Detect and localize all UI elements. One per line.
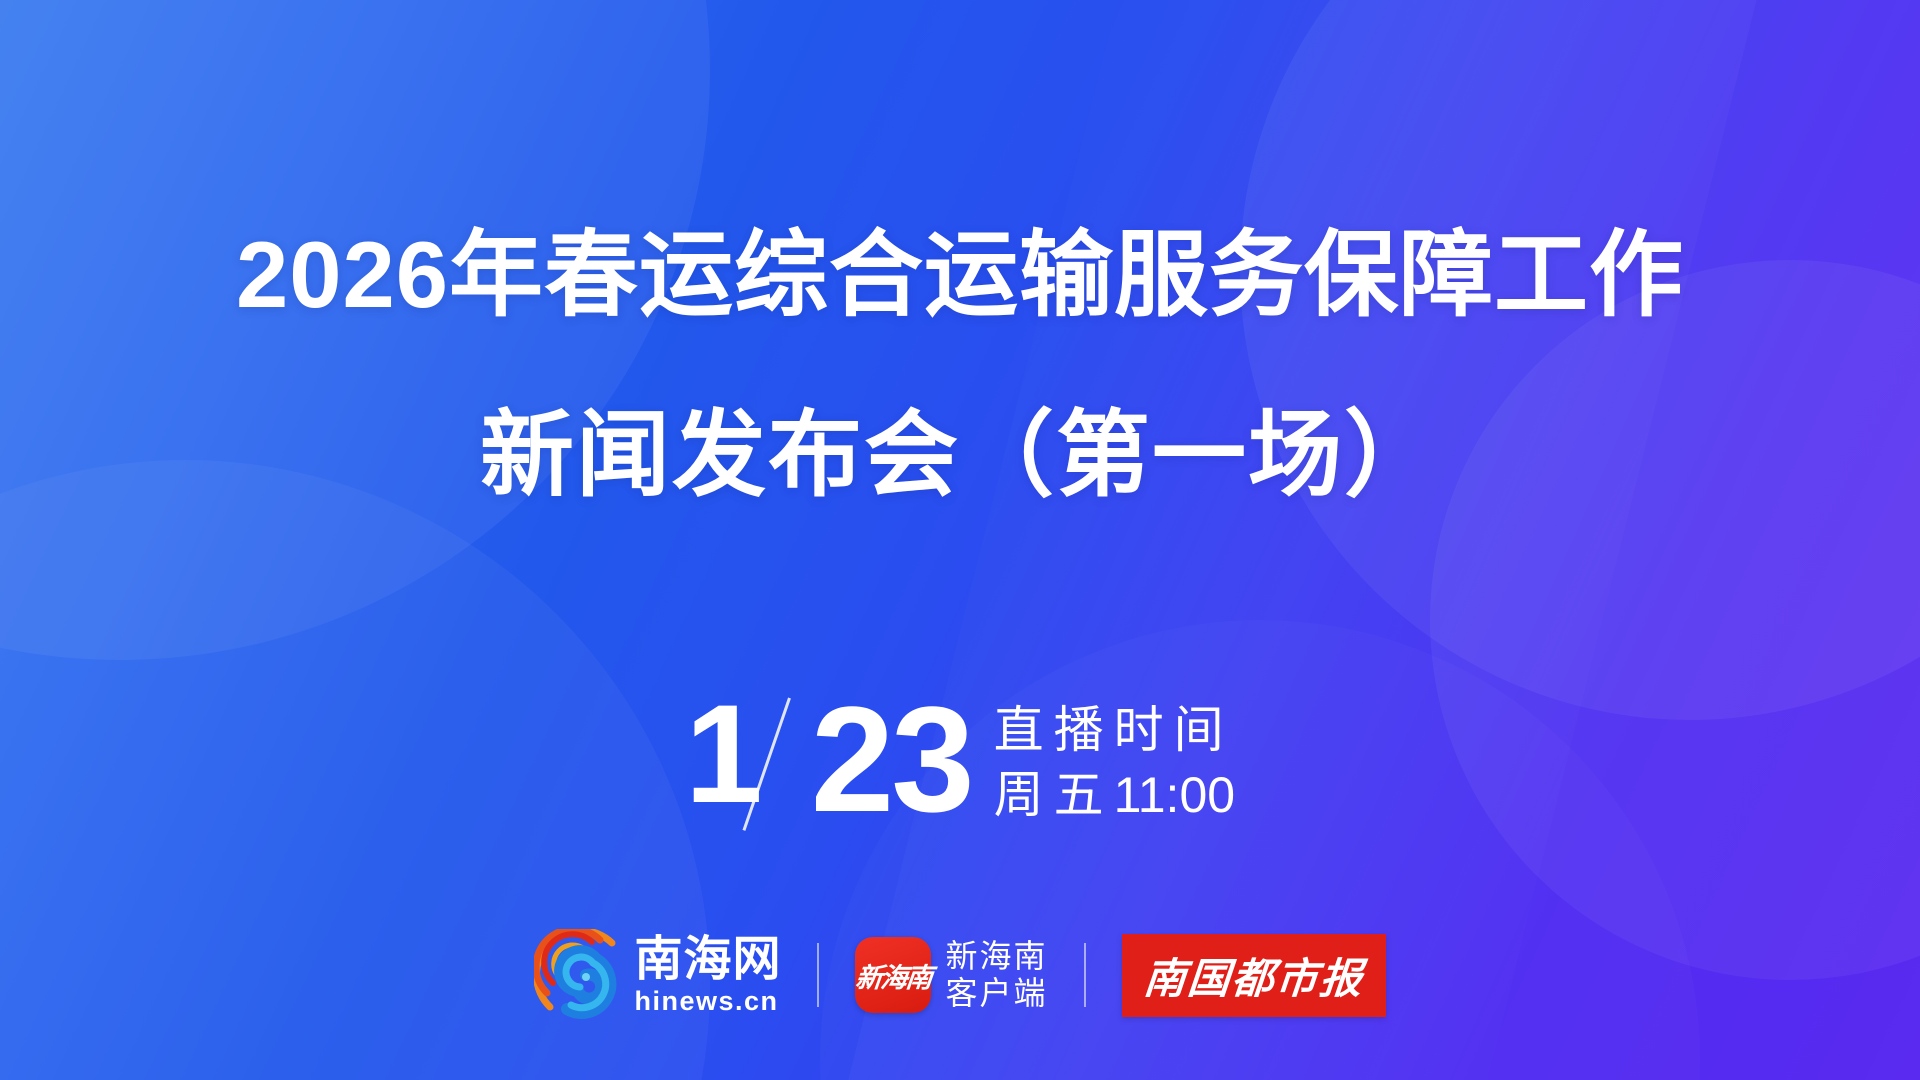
nanguo-daily-label: 南国都市报 [1141,945,1366,1006]
hinews-cn-label: 南海网 [634,936,781,984]
logo-nanguo-metropolis-daily[interactable]: 南国都市报 [1122,925,1386,1025]
logo-xinhainan-app[interactable]: 新海南 新海南 客户端 [855,925,1047,1025]
date-time-block: 1 23 直播时间 周五11:00 [0,690,1920,840]
xinhainan-app-icon-text: 新海南 [854,956,933,995]
sponsor-logo-strip: 南海网 hinews.cn 新海南 新海南 客户端 [0,920,1920,1030]
xinhainan-label-line-2: 客户端 [945,975,1047,1012]
event-day: 23 [811,690,972,828]
poster-title: 2026年春运综合运输服务保障工作 新闻发布会（第一场） [0,228,1920,502]
broadcast-weekday: 周五 [994,767,1114,823]
broadcast-time-value: 周五11:00 [994,769,1235,822]
broadcast-time-label: 直播时间 [994,704,1235,757]
hinews-spiral-icon [534,929,626,1021]
title-line-2: 新闻发布会（第一场） [0,408,1920,502]
logo-divider-2 [1084,943,1086,1007]
logo-hinews[interactable]: 南海网 hinews.cn [534,925,781,1025]
date-separator-slash [761,690,815,840]
nanguo-daily-banner: 南国都市报 [1122,934,1386,1017]
broadcast-time-column: 直播时间 周五11:00 [994,690,1235,821]
logo-divider-1 [817,943,819,1007]
hinews-en-label: hinews.cn [634,988,781,1015]
xinhainan-label-line-1: 新海南 [945,938,1047,975]
title-line-1: 2026年春运综合运输服务保障工作 [0,228,1920,322]
xinhainan-app-icon: 新海南 [855,937,931,1013]
event-poster: 2026年春运综合运输服务保障工作 新闻发布会（第一场） 1 23 直播时间 周… [0,0,1920,1080]
broadcast-clock: 11:00 [1114,767,1235,823]
event-month: 1 [685,690,761,819]
